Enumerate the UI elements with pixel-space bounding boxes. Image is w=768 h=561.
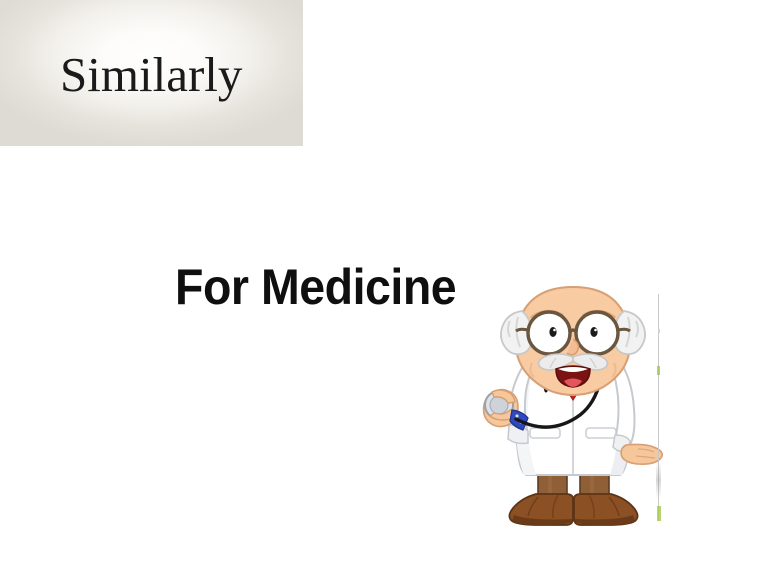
shoes-group <box>509 494 637 525</box>
title-panel: Similarly <box>0 0 303 146</box>
watermark-green-accent-top <box>657 366 660 375</box>
main-heading: For Medicine <box>175 262 456 312</box>
watermark-tick-mark <box>658 329 660 333</box>
watermark-caption-sliver <box>656 462 661 498</box>
doctor-illustration <box>470 285 670 530</box>
watermark-green-accent-bottom <box>657 506 661 521</box>
page-title: Similarly <box>60 50 242 99</box>
slide-canvas: Similarly For Medicine <box>0 0 768 561</box>
stock-watermark-sliver <box>657 294 661 521</box>
